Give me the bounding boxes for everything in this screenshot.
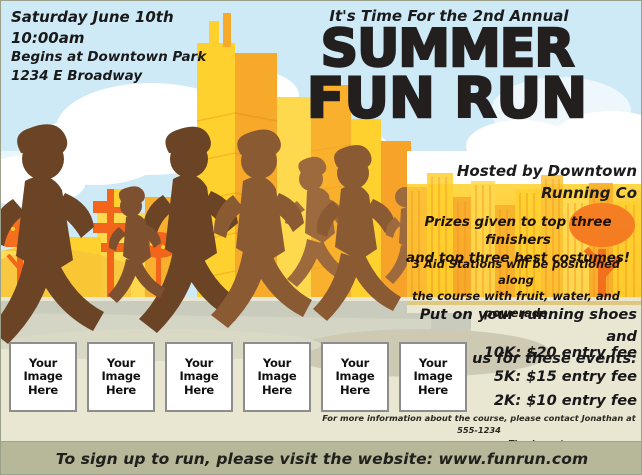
event-title: SUMMER FUN RUN bbox=[251, 25, 642, 125]
image-placeholder-4-line1: Your bbox=[263, 357, 291, 370]
image-placeholder-6-line3: Here bbox=[418, 384, 448, 397]
event-title-line2: FUN RUN bbox=[251, 73, 642, 124]
image-placeholder-6-line2: Image bbox=[413, 370, 452, 383]
image-placeholder-1-line2: Image bbox=[23, 370, 62, 383]
image-placeholder-1-line1: Your bbox=[29, 357, 57, 370]
aid-line1: 3 Aid Stations will be positioned along bbox=[393, 256, 639, 288]
image-placeholder-1[interactable]: Your Image Here bbox=[9, 342, 77, 412]
prizes-line1: Prizes given to top three finishers bbox=[397, 214, 639, 250]
host-line2: Running Co bbox=[397, 183, 637, 205]
signup-footer-bar: To sign up to run, please visit the webs… bbox=[1, 441, 642, 475]
event-ticket-flyer: Saturday June 10th 10:00am Begins at Dow… bbox=[0, 0, 642, 475]
image-placeholder-3-line2: Image bbox=[179, 370, 218, 383]
image-placeholder-2-line3: Here bbox=[106, 384, 136, 397]
event-time: 10:00am bbox=[11, 28, 226, 49]
host-block: Hosted by Downtown Running Co bbox=[397, 161, 637, 205]
event-venue: Begins at Downtown Park bbox=[11, 48, 226, 67]
image-placeholder-5[interactable]: Your Image Here bbox=[321, 342, 389, 412]
image-placeholder-5-line1: Your bbox=[341, 357, 369, 370]
image-placeholder-2-line1: Your bbox=[107, 357, 135, 370]
image-placeholder-2[interactable]: Your Image Here bbox=[87, 342, 155, 412]
footnote-contact: For more information about the course, p… bbox=[319, 412, 639, 437]
image-placeholder-3[interactable]: Your Image Here bbox=[165, 342, 233, 412]
image-placeholder-6[interactable]: Your Image Here bbox=[399, 342, 467, 412]
signup-footer-text: To sign up to run, please visit the webs… bbox=[1, 442, 642, 475]
image-placeholder-4-line3: Here bbox=[262, 384, 292, 397]
event-address: 1234 E Broadway bbox=[11, 67, 226, 86]
image-placeholder-2-line2: Image bbox=[101, 370, 140, 383]
image-placeholder-4[interactable]: Your Image Here bbox=[243, 342, 311, 412]
image-placeholder-1-line3: Here bbox=[28, 384, 58, 397]
image-placeholder-row: Your Image Here Your Image Here Your Ima… bbox=[9, 342, 479, 414]
image-placeholder-3-line3: Here bbox=[184, 384, 214, 397]
image-placeholder-5-line3: Here bbox=[340, 384, 370, 397]
image-placeholder-4-line2: Image bbox=[257, 370, 296, 383]
image-placeholder-3-line1: Your bbox=[185, 357, 213, 370]
event-date: Saturday June 10th bbox=[11, 7, 226, 28]
host-line1: Hosted by Downtown bbox=[397, 161, 637, 183]
image-placeholder-5-line2: Image bbox=[335, 370, 374, 383]
event-datetime-block: Saturday June 10th 10:00am Begins at Dow… bbox=[11, 7, 226, 86]
image-placeholder-6-line1: Your bbox=[419, 357, 447, 370]
